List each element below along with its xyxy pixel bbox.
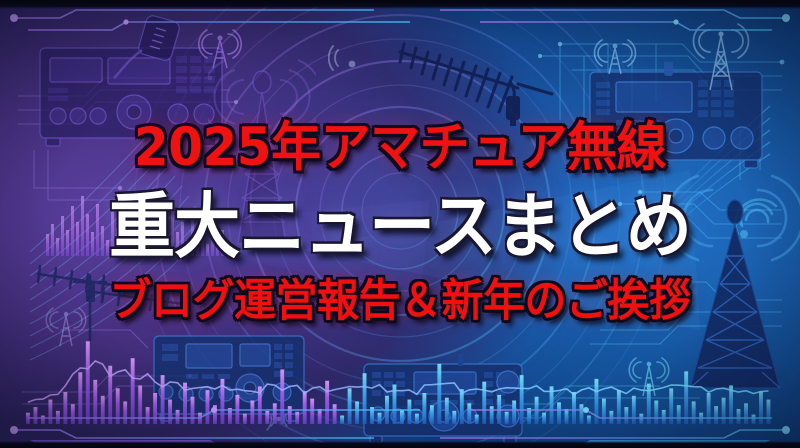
title-text-block: 2025年アマチュア無線 重大ニュースまとめ ブログ運営報告＆新年のご挨拶 [0,0,800,448]
thumbnail-canvas: 2025年アマチュア無線 重大ニュースまとめ ブログ運営報告＆新年のご挨拶 [0,0,800,448]
title-line-2: 重大ニュースまとめ [109,191,691,262]
title-line-3: ブログ運営報告＆新年のご挨拶 [109,279,690,323]
title-line-1: 2025年アマチュア無線 [134,121,666,174]
